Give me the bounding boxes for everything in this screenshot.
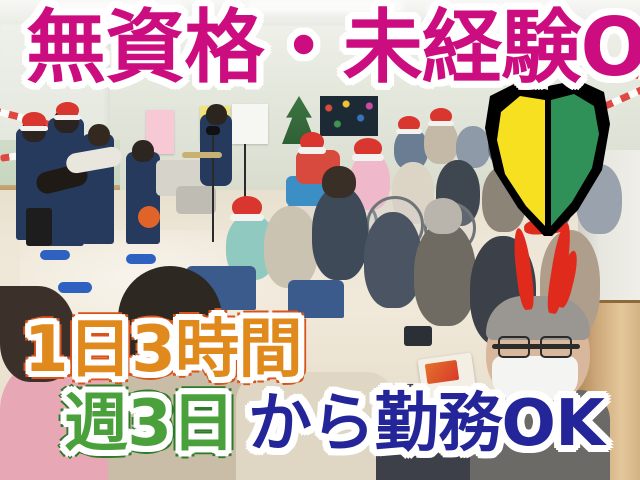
wall-artwork (320, 96, 378, 136)
recruitment-banner: 無資格・未経験OK 1日3時間 週3日 から勤務OK (0, 0, 640, 480)
cymbal (182, 152, 222, 158)
performer-head (206, 104, 227, 125)
drum-kit (176, 186, 216, 214)
santa-hat (232, 196, 262, 218)
santa-hat (300, 132, 324, 151)
audience-head (322, 166, 356, 198)
audience-member (424, 120, 458, 164)
shoes (126, 254, 156, 264)
hours-text: 1日3時間 (24, 318, 302, 382)
eyeglasses (540, 336, 572, 358)
santa-hat (56, 102, 79, 118)
shoes (58, 282, 92, 293)
shoes (40, 250, 70, 260)
audience-member (414, 222, 476, 326)
eyeglasses (498, 336, 530, 358)
shoshinsha-mark-icon (482, 78, 614, 240)
performer-head (88, 124, 110, 146)
poster-white (232, 104, 268, 144)
decor-ball (138, 206, 160, 228)
audience-head (424, 198, 462, 234)
santa-hat (430, 108, 452, 124)
santa-hat (354, 138, 382, 158)
hair (486, 296, 590, 340)
amp-speaker (26, 208, 52, 246)
audience-member (364, 212, 422, 308)
days-text-green: 週3日 (64, 392, 235, 456)
handheld-card (404, 326, 432, 346)
microphone (206, 126, 220, 135)
mic-stand (212, 132, 214, 242)
audience-member (264, 206, 318, 288)
audience-member (312, 186, 368, 280)
performer-seated (126, 152, 160, 244)
days-text-blue: から勤務OK (248, 392, 604, 456)
santa-hat (398, 116, 420, 132)
performer-head (132, 140, 154, 162)
santa-hat (22, 112, 46, 129)
headline-text: 無資格・未経験OK (26, 8, 640, 88)
